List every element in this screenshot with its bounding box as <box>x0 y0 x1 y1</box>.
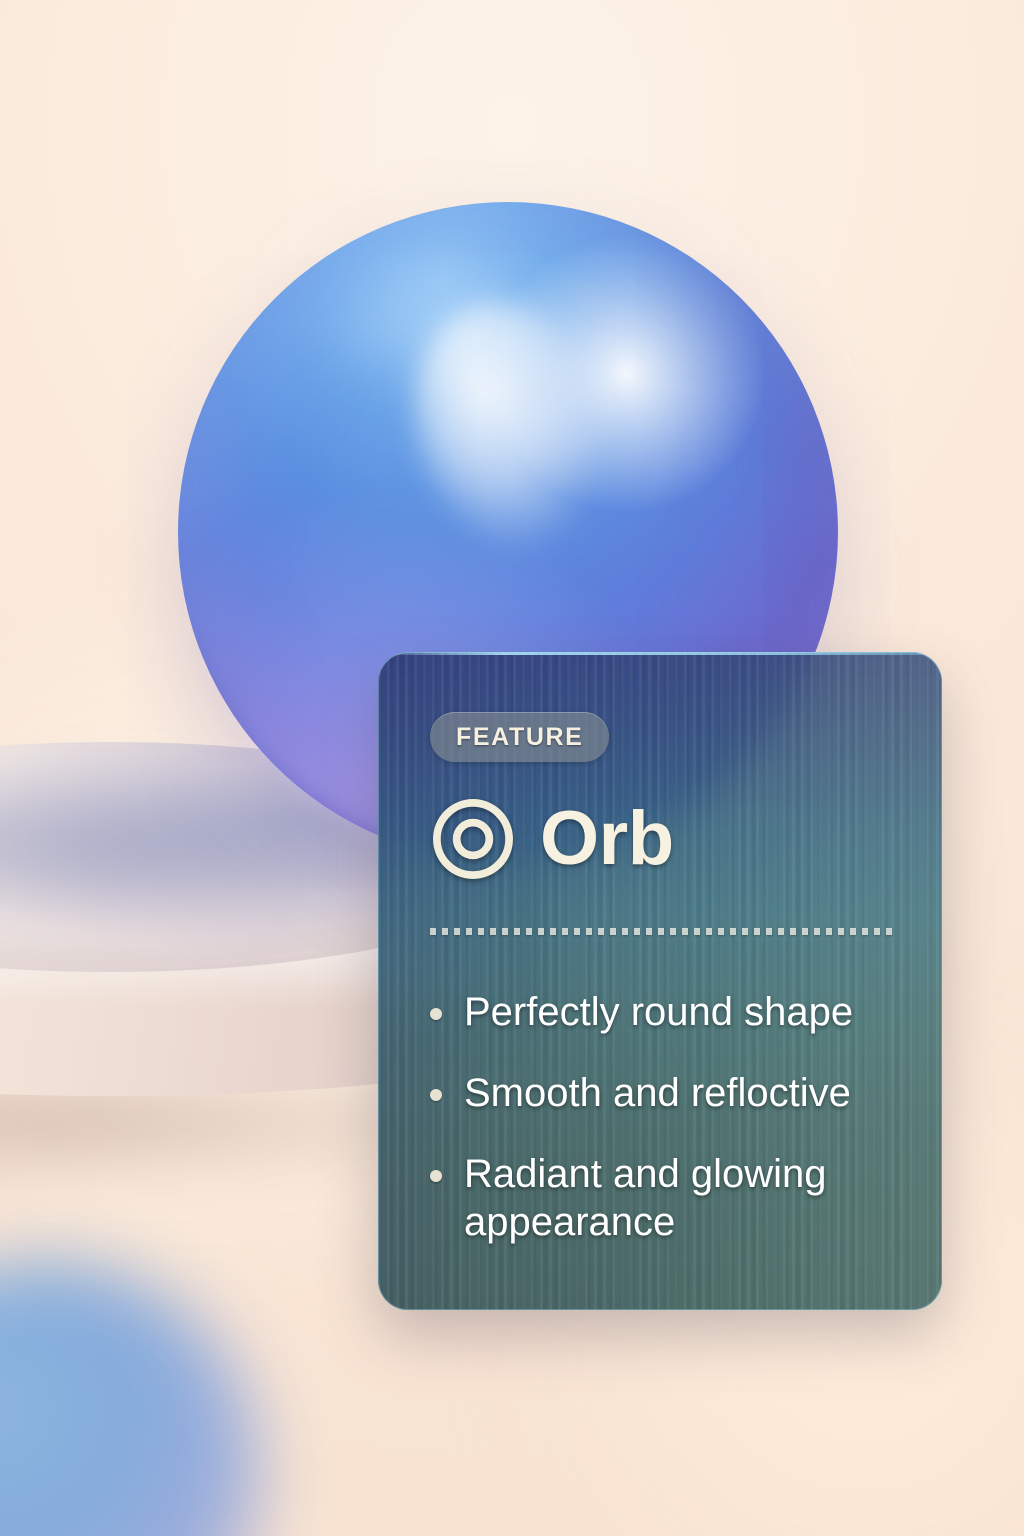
bullet-dot-icon <box>430 1170 442 1182</box>
card-title-row: Orb <box>430 796 898 882</box>
feature-card[interactable]: FEATURE Orb Perfectly round shape Smooth… <box>378 652 942 1310</box>
list-item-label: Radiant and glowing appearance <box>464 1151 864 1245</box>
concentric-circles-icon <box>430 796 516 882</box>
feature-badge-label: FEATURE <box>456 723 583 752</box>
bullet-dot-icon <box>430 1089 442 1101</box>
scene-root: FEATURE Orb Perfectly round shape Smooth… <box>0 0 1024 1536</box>
feature-list: Perfectly round shape Smooth and refloct… <box>430 989 898 1246</box>
feature-badge[interactable]: FEATURE <box>430 712 609 762</box>
list-item: Perfectly round shape <box>430 989 898 1036</box>
list-item-label: Perfectly round shape <box>464 989 853 1036</box>
foreground-bokeh-orb <box>0 1262 262 1536</box>
dotted-divider <box>430 928 898 935</box>
list-item-label: Smooth and refloctive <box>464 1070 851 1117</box>
card-content: FEATURE Orb Perfectly round shape Smooth… <box>378 652 942 1246</box>
bullet-dot-icon <box>430 1008 442 1020</box>
list-item: Smooth and refloctive <box>430 1070 898 1117</box>
list-item: Radiant and glowing appearance <box>430 1151 898 1245</box>
card-title: Orb <box>540 802 674 876</box>
